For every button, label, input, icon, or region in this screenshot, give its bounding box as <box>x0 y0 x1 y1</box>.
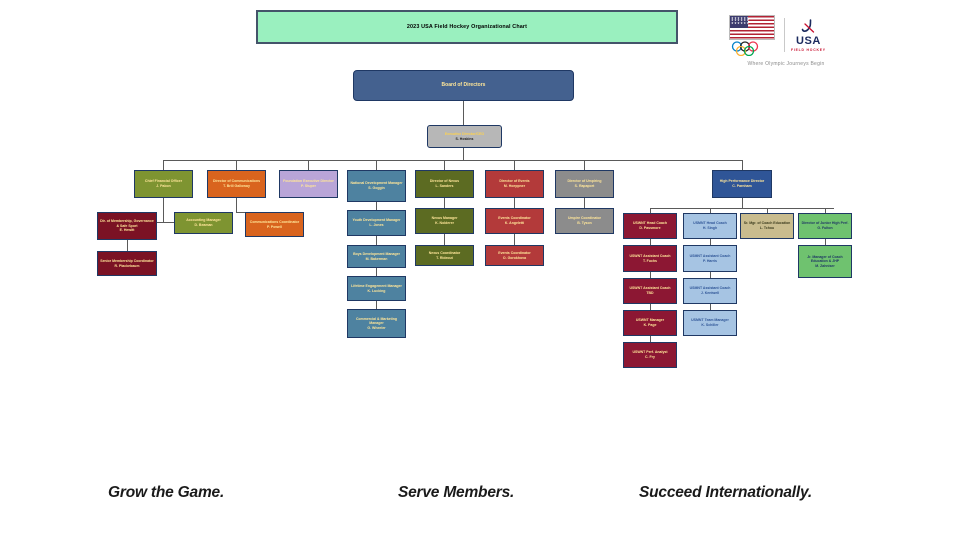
node-director-of-nexus[interactable]: Director of Nexus L. Sanders <box>415 170 474 198</box>
connector-youth-boys <box>376 236 377 245</box>
usa-field-hockey-logo: ★★★★★★★★★★★★★★★★★★ <box>726 12 846 74</box>
node-lifetime-engagement-manager[interactable]: Lifetime Engagement Manager K. Lucking <box>347 276 406 301</box>
node-person: L. Jones <box>369 223 383 227</box>
node-title: Nexus Coordinator <box>429 251 461 255</box>
connector-drop-high-performance <box>742 160 743 170</box>
node-title: USWNT Head Coach <box>633 221 667 225</box>
node-person: G. Wheeler <box>367 326 385 330</box>
node-person: H. Singh <box>703 226 717 230</box>
node-title: USMNT Assistant Coach <box>690 254 731 258</box>
node-title: USMNT Team Manager <box>691 318 729 322</box>
node-person: C. Parnham <box>732 184 751 188</box>
node-boys-development-manager[interactable]: Boys Development Manager M. Bakerman <box>347 245 406 268</box>
node-person: M. Bakerman <box>366 257 388 261</box>
node-title: USWNT Assistant Coach <box>629 286 670 290</box>
node-person: D. Beaman <box>194 223 212 227</box>
connector-drop-communications <box>236 160 237 170</box>
node-person: S. Goggin <box>368 186 385 190</box>
slogan-grow-the-game: Grow the Game. <box>108 484 224 502</box>
connector-nexus-mgr <box>444 198 445 208</box>
node-title: Director of Communications <box>213 179 260 183</box>
slogan-succeed-internationally: Succeed Internationally. <box>639 484 812 502</box>
slogan-serve-members: Serve Members. <box>398 484 514 502</box>
connector-drop-umpiring <box>584 160 585 170</box>
node-title: Jr. Manager of Coach Education & JHP <box>807 255 842 264</box>
connector-comms-down <box>236 198 237 212</box>
node-uswnt-assistant-coach-2[interactable]: USWNT Assistant Coach TBD <box>623 278 677 304</box>
page-title: 2023 USA Field Hockey Organizational Cha… <box>407 24 527 30</box>
connector-lifetime-commercial <box>376 301 377 309</box>
node-person: R. Plackebaum <box>115 264 140 268</box>
node-uswnt-performance-analyst[interactable]: USWNT Perf. Analyst C. Fry <box>623 342 677 368</box>
node-nexus-manager[interactable]: Nexus Manager K. Nolderer <box>415 208 474 234</box>
node-title: Dir. of Membership, Governance & Safe Sp… <box>100 219 154 228</box>
node-accounting-manager[interactable]: Accounting Manager D. Beaman <box>174 212 233 234</box>
node-title: National Development Manager <box>350 181 402 185</box>
node-title: Director of Umpiring <box>567 179 601 183</box>
field-hockey-stick-icon <box>800 19 817 36</box>
connector-boys-lifetime <box>376 268 377 276</box>
connector-hp-down <box>742 198 743 208</box>
node-youth-development-manager[interactable]: Youth Development Manager L. Jones <box>347 210 406 236</box>
node-person: M. Zahniser <box>815 264 834 268</box>
node-nexus-coordinator[interactable]: Nexus Coordinator T. Rideout <box>415 245 474 266</box>
node-person: C. Fry <box>645 355 655 359</box>
node-person: K. Lucking <box>368 289 386 293</box>
node-title: Board of Directors <box>442 82 486 88</box>
node-high-performance-director[interactable]: High Performance Director C. Parnham <box>712 170 772 198</box>
node-board-of-directors[interactable]: Board of Directors <box>353 70 574 101</box>
node-person: T. Rideout <box>436 256 453 260</box>
node-person: P. Powell <box>267 225 282 229</box>
node-director-of-events[interactable]: Director of Events M. Hoeppner <box>485 170 544 198</box>
connector-events-coord2 <box>514 234 515 245</box>
node-title: High Performance Director <box>720 179 765 183</box>
node-events-coordinator-2[interactable]: Events Coordinator O. Gorokhova <box>485 245 544 266</box>
node-foundation-executive-director[interactable]: Foundation Executive Director P. Stuper <box>279 170 338 198</box>
chart-title-banner: 2023 USA Field Hockey Organizational Cha… <box>256 10 678 44</box>
node-title: USMNT Head Coach <box>693 221 727 225</box>
node-events-coordinator-1[interactable]: Events Coordinator K. Angeletti <box>485 208 544 234</box>
node-person: M. Hoeppner <box>504 184 525 188</box>
logo-divider <box>784 18 785 52</box>
connector-exec-bus <box>163 160 742 161</box>
connector-board-ceo <box>463 101 464 125</box>
node-usmnt-assistant-coach-1[interactable]: USMNT Assistant Coach P. Harris <box>683 245 737 272</box>
connector-umpire-coord <box>584 198 585 208</box>
node-usmnt-team-manager[interactable]: USMNT Team Manager K. Schiller <box>683 310 737 336</box>
node-usmnt-head-coach[interactable]: USMNT Head Coach H. Singh <box>683 213 737 239</box>
connector-drop-events <box>514 160 515 170</box>
node-person: K. Nolderer <box>435 221 454 225</box>
node-person: T. Brill Galloway <box>223 184 250 188</box>
org-chart-canvas: 2023 USA Field Hockey Organizational Cha… <box>0 0 960 540</box>
connector-natdev-youth <box>376 202 377 210</box>
node-person: T. Fuchs <box>643 259 657 263</box>
node-title: USWNT Assistant Coach <box>629 254 670 258</box>
node-executive-director[interactable]: Executive Director/CEO S. Hoskins <box>427 125 502 148</box>
node-title: Director of Junior High Perf. <box>802 221 849 225</box>
connector-ceo-bus <box>463 148 464 160</box>
connector-hp-bus <box>650 208 834 209</box>
node-title: Umpire Coordinator <box>568 216 601 220</box>
node-person: B. Tyson <box>577 221 592 225</box>
node-title: Communications Coordinator <box>250 220 299 224</box>
node-person: K. Page <box>644 323 657 327</box>
node-person: K. Angeletti <box>505 221 524 225</box>
node-person: J. Kentwell <box>701 291 719 295</box>
node-director-of-communications[interactable]: Director of Communications T. Brill Gall… <box>207 170 266 198</box>
node-uswnt-manager[interactable]: USWNT Manager K. Page <box>623 310 677 336</box>
logo-tagline: Where Olympic Journeys Begin <box>726 61 846 67</box>
connector-drop-national-dev <box>376 160 377 170</box>
node-director-of-membership[interactable]: Dir. of Membership, Governance & Safe Sp… <box>97 212 157 240</box>
node-person: P. Stuper <box>301 184 316 188</box>
node-chief-financial-officer[interactable]: Chief Financial Officer J. Pabon <box>134 170 193 198</box>
connector-nexus-coord <box>444 234 445 245</box>
node-uswnt-head-coach[interactable]: USWNT Head Coach D. Passmore <box>623 213 677 239</box>
node-title: Events Coordinator <box>498 251 530 255</box>
node-senior-membership-coordinator[interactable]: Senior Membership Coordinator R. Plackeb… <box>97 251 157 276</box>
node-title: Lifetime Engagement Manager <box>351 284 402 288</box>
connector-drop-foundation <box>308 160 309 170</box>
node-person: S. Rapaport <box>575 184 595 188</box>
node-communications-coordinator[interactable]: Communications Coordinator P. Powell <box>245 212 304 237</box>
node-person: TBD <box>646 291 653 295</box>
node-person: P. Harris <box>703 259 717 263</box>
node-title: Chief Financial Officer <box>145 179 182 183</box>
node-title: USWNT Manager <box>636 318 664 322</box>
connector-events-coord1 <box>514 198 515 208</box>
node-umpire-coordinator[interactable]: Umpire Coordinator B. Tyson <box>555 208 614 234</box>
node-person: E. Hewitt <box>120 228 135 232</box>
node-person: G. Fulton <box>817 226 832 230</box>
node-person: S. Hoskins <box>456 137 474 141</box>
node-person: L. Sanders <box>436 184 454 188</box>
node-national-development-manager[interactable]: National Development Manager S. Goggin <box>347 170 406 202</box>
node-title: USWNT Perf. Analyst <box>632 350 667 354</box>
usa-flag-icon: ★★★★★★★★★★★★★★★★★★ <box>729 15 775 40</box>
node-title: Youth Development Manager <box>353 218 401 222</box>
node-person: J. Pabon <box>156 184 171 188</box>
connector-drop-cfo <box>163 160 164 170</box>
node-title: Director of Nexus <box>430 179 459 183</box>
olympic-rings-icon <box>729 41 775 56</box>
node-person: K. Schiller <box>701 323 718 327</box>
node-person: O. Gorokhova <box>503 256 526 260</box>
node-uswnt-assistant-coach-1[interactable]: USWNT Assistant Coach T. Fuchs <box>623 245 677 272</box>
node-title: Events Coordinator <box>498 216 530 220</box>
node-title: Foundation Executive Director <box>283 179 334 183</box>
connector-membership-sr <box>127 240 128 251</box>
node-person: L. Tchou <box>760 226 774 230</box>
node-title: Commercial & Marketing Manager <box>356 317 397 326</box>
node-title: Executive Director/CEO <box>445 132 484 136</box>
node-title: Sr. Mgr. of Coach Education <box>744 221 790 225</box>
node-title: Boys Development Manager <box>353 252 400 256</box>
node-commercial-marketing-manager[interactable]: Commercial & Marketing Manager G. Wheele… <box>347 309 406 338</box>
node-director-of-umpiring[interactable]: Director of Umpiring S. Rapaport <box>555 170 614 198</box>
node-title: Director of Events <box>499 179 529 183</box>
node-title: USMNT Assistant Coach <box>690 286 731 290</box>
node-junior-manager-coach-education[interactable]: Jr. Manager of Coach Education & JHP M. … <box>798 245 852 278</box>
node-title: Accounting Manager <box>186 218 221 222</box>
node-senior-manager-coach-education[interactable]: Sr. Mgr. of Coach Education L. Tchou <box>740 213 794 239</box>
node-person: D. Passmore <box>639 226 660 230</box>
node-title: Senior Membership Coordinator <box>100 259 153 263</box>
node-title: Nexus Manager <box>432 216 458 220</box>
field-hockey-wordmark: FIELD HOCKEY <box>791 48 826 52</box>
node-usmnt-assistant-coach-2[interactable]: USMNT Assistant Coach J. Kentwell <box>683 278 737 304</box>
connector-cfo-down <box>163 198 164 222</box>
connector-drop-nexus <box>444 160 445 170</box>
usa-wordmark: USA <box>796 36 821 47</box>
node-director-junior-high-performance[interactable]: Director of Junior High Perf. G. Fulton <box>798 213 852 239</box>
